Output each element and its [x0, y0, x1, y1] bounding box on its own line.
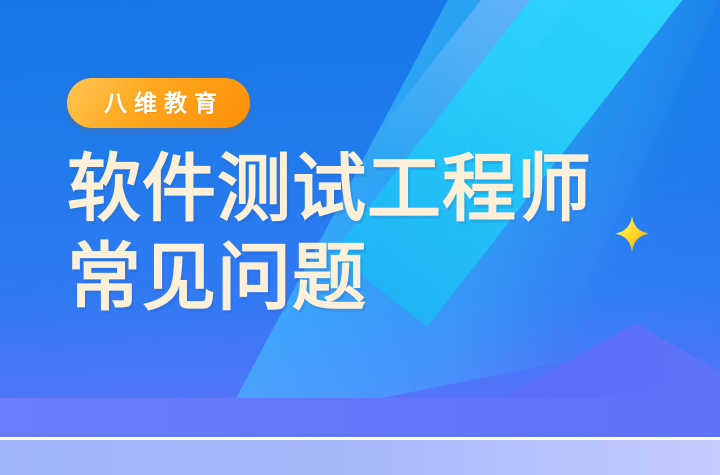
- bottom-light-strip: [0, 440, 720, 475]
- promo-banner: 八维教育 软件测试工程师 常见问题: [0, 0, 720, 475]
- sparkle-star-icon: [612, 214, 652, 254]
- white-divider-rule: [0, 437, 720, 440]
- brand-badge-label: 八维教育: [97, 92, 224, 115]
- brand-badge: 八维教育: [67, 78, 250, 128]
- headline-line-2: 常见问题: [67, 237, 687, 320]
- headline-line-1: 软件测试工程师: [67, 148, 687, 231]
- banner-content: 八维教育 软件测试工程师 常见问题: [67, 78, 687, 320]
- headline-block: 软件测试工程师 常见问题: [67, 148, 687, 320]
- bottom-purple-band: [0, 398, 720, 437]
